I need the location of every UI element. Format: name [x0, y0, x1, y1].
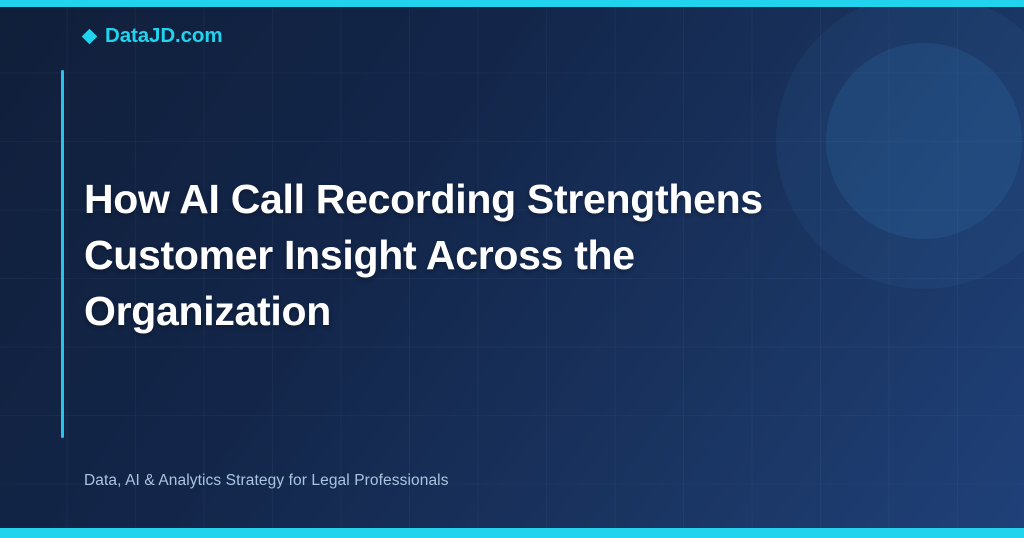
brand-logo-text: DataJD.com	[105, 26, 223, 47]
top-accent-bar	[0, 0, 1024, 7]
bottom-accent-bar	[0, 528, 1024, 538]
title-slide: DataJD.com How AI Call Recording Strengt…	[0, 0, 1024, 538]
left-vertical-accent-line	[61, 70, 64, 438]
page-title: How AI Call Recording Strengthens Custom…	[84, 171, 824, 339]
diamond-icon	[82, 28, 98, 44]
brand-logo[interactable]: DataJD.com	[84, 26, 223, 47]
page-subtitle: Data, AI & Analytics Strategy for Legal …	[84, 471, 449, 491]
decorative-circle-inner	[826, 43, 1022, 239]
